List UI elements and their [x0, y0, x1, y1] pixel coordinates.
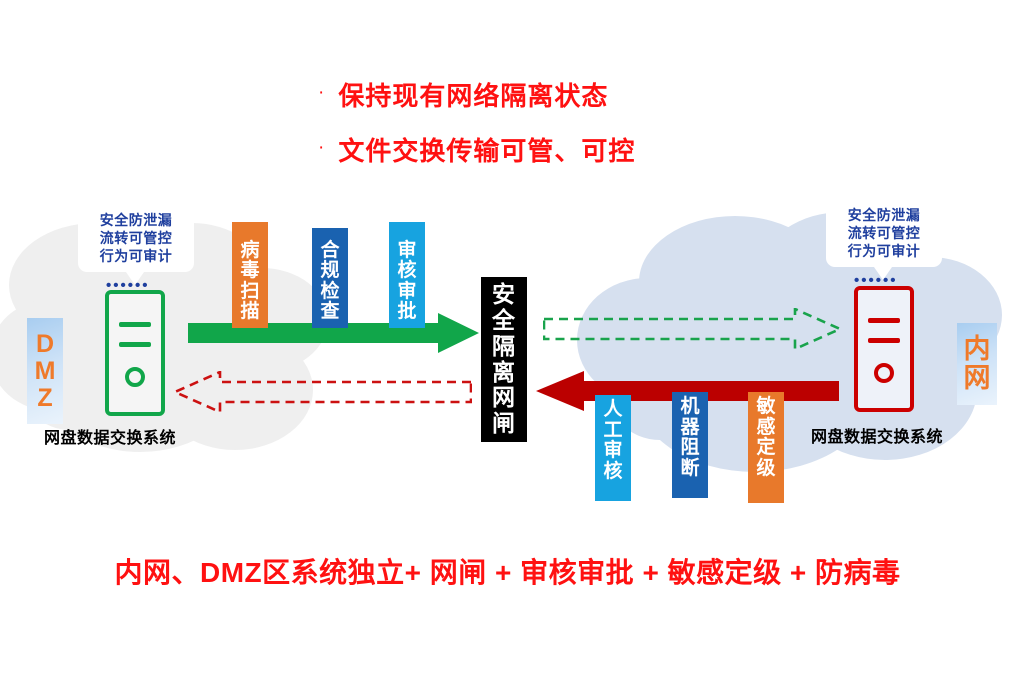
tag-char: 病 [240, 241, 259, 262]
tag-char: 人 [603, 400, 622, 421]
gate-char: 网 [492, 385, 516, 411]
gate-char: 隔 [492, 334, 516, 360]
gate-char: 离 [492, 360, 516, 386]
tag-char: 核 [397, 261, 416, 282]
header-bullet-list: · 保持现有网络隔离状态 · 文件交换传输可管、可控 [318, 76, 878, 186]
callout-line: 行为可审计 [88, 248, 184, 266]
callout-line: 流转可管控 [88, 230, 184, 248]
dmz-zone-box: D M Z [27, 318, 63, 424]
gate-char: 闸 [492, 411, 516, 437]
tag-char: 断 [680, 459, 699, 480]
tag-char: 扫 [240, 282, 259, 303]
tag-compliance-check: 合 规 检 查 [312, 228, 348, 328]
dmz-letter: D [36, 331, 54, 358]
tag-char: 器 [680, 418, 699, 439]
intranet-zone-box: 内 网 [957, 323, 997, 405]
callout-line: 安全防泄漏 [88, 212, 184, 230]
bullet-text: 保持现有网络隔离状态 [338, 76, 608, 113]
tag-char: 阻 [680, 438, 699, 459]
bullet-item: · 文件交换传输可管、可控 [318, 131, 878, 168]
tag-char: 合 [320, 241, 339, 262]
tag-char: 毒 [240, 261, 259, 282]
left-callout-bubble: 安全防泄漏 流转可管控 行为可审计 [78, 205, 194, 272]
tag-char: 规 [320, 261, 339, 282]
bullet-marker-icon: · [318, 138, 324, 157]
intranet-char: 内 [964, 335, 991, 364]
tag-char: 核 [603, 462, 622, 483]
intranet-char: 网 [964, 364, 991, 393]
left-server-caption: 网盘数据交换系统 [44, 424, 176, 448]
tag-char: 检 [320, 282, 339, 303]
security-gate-box: 安 全 隔 离 网 闸 [481, 277, 527, 442]
tag-char: 机 [680, 397, 699, 418]
gate-to-dmz-arrow [172, 371, 472, 413]
callout-line: 行为可审计 [836, 243, 932, 261]
bullet-marker-icon: · [318, 83, 324, 102]
tag-char: 级 [756, 459, 775, 480]
tag-char: 批 [397, 302, 416, 323]
tag-char: 工 [603, 421, 622, 442]
right-server-tower-icon [853, 285, 915, 413]
dmz-letter: Z [37, 385, 52, 412]
slide-canvas: · 保持现有网络隔离状态 · 文件交换传输可管、可控 D M Z 安全防泄漏 流… [0, 0, 1015, 675]
summary-line: 内网、DMZ区系统独立+ 网闸 + 审核审批 + 敏感定级 + 防病毒 [0, 551, 1015, 591]
callout-line: 安全防泄漏 [836, 207, 932, 225]
left-server-tower-icon [104, 289, 166, 417]
bullet-text: 文件交换传输可管、可控 [338, 131, 635, 168]
right-server-caption: 网盘数据交换系统 [811, 423, 943, 447]
dmz-letter: M [35, 358, 56, 385]
tag-virus-scan: 病 毒 扫 描 [232, 222, 268, 328]
tag-manual-review: 人 工 审 核 [595, 395, 631, 501]
gate-char: 全 [492, 308, 516, 334]
tag-sensitivity-grading: 敏 感 定 级 [748, 392, 784, 503]
gate-char: 安 [492, 282, 516, 308]
tag-char: 感 [756, 418, 775, 439]
tag-review-approval: 审 核 审 批 [389, 222, 425, 328]
tag-char: 审 [397, 282, 416, 303]
right-callout-bubble: 安全防泄漏 流转可管控 行为可审计 [826, 200, 942, 267]
tag-char: 描 [240, 302, 259, 323]
tag-char: 定 [756, 438, 775, 459]
bullet-item: · 保持现有网络隔离状态 [318, 76, 878, 113]
callout-line: 流转可管控 [836, 225, 932, 243]
tag-char: 查 [320, 302, 339, 323]
tag-char: 审 [603, 441, 622, 462]
gate-to-intranet-arrow [543, 308, 843, 350]
tag-machine-block: 机 器 阻 断 [672, 392, 708, 498]
tag-char: 审 [397, 241, 416, 262]
tag-char: 敏 [756, 397, 775, 418]
